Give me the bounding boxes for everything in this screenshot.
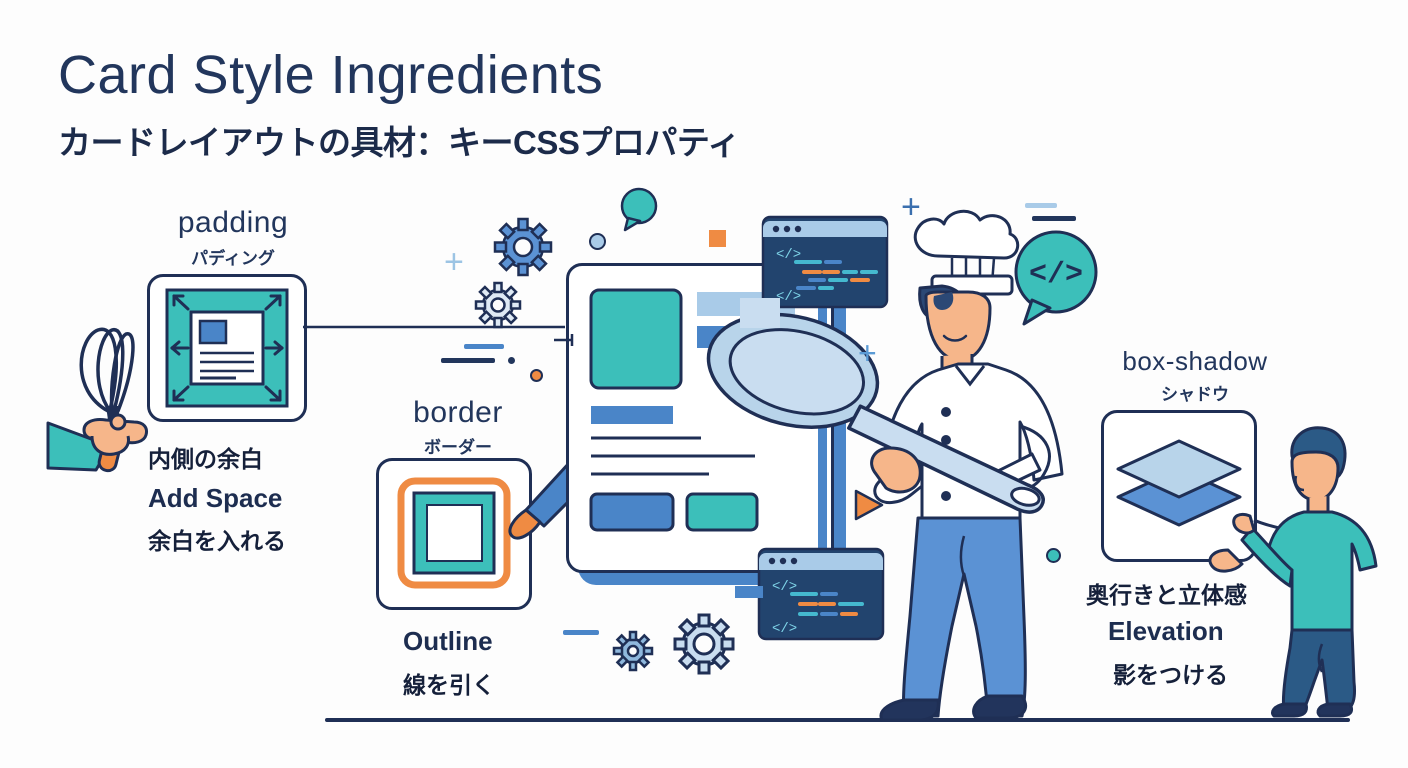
- person-hand-upper: [1234, 514, 1254, 532]
- border-caption-ja-bottom: 線を引く: [403, 666, 495, 700]
- plus-decor-top: +: [901, 190, 921, 224]
- speech-bubble-code-glyph: </>: [1029, 258, 1083, 292]
- blue-tab-decor: [735, 586, 763, 598]
- dash-dot-decor: [508, 357, 515, 364]
- chef-pants: [903, 518, 1025, 716]
- gear-icon-small: [473, 280, 523, 330]
- code-glyph-close: </>: [772, 621, 797, 637]
- padding-prop-name: padding: [148, 206, 318, 240]
- dash-decor-e: [563, 630, 599, 635]
- padding-caption-ja-bottom: 余白を入れる: [148, 522, 286, 556]
- person-pants: [1283, 630, 1354, 710]
- boxshadow-label-group: box-shadow シャドウ: [1080, 346, 1310, 405]
- dash-decor-a: [1025, 203, 1057, 208]
- boxshadow-caption-ja-bottom: 影をつける: [1113, 656, 1228, 690]
- light-block-decor: [740, 298, 780, 328]
- boxshadow-prop-name: box-shadow: [1080, 346, 1310, 377]
- code-speech-bubble: </>: [1006, 228, 1106, 328]
- boxshadow-caption-en: Elevation: [1108, 616, 1224, 647]
- orange-square-decor: [709, 230, 726, 247]
- boxshadow-icon-card: [1101, 410, 1257, 562]
- plus-decor-left: +: [444, 245, 464, 279]
- chef-shoe-left: [881, 700, 938, 720]
- teal-bubble-decor: [618, 188, 662, 232]
- border-caption-en: Outline: [403, 626, 493, 657]
- padding-caption-en: Add Space: [148, 483, 282, 514]
- padding-prop-kana: パディング: [148, 244, 318, 269]
- gear-icon-bottom-small: [612, 630, 654, 672]
- infographic-canvas: Card Style Ingredients カードレイアウトの具材：キーCSS…: [0, 0, 1408, 768]
- chef-hand: [872, 448, 921, 492]
- dash-decor-c: [464, 344, 504, 349]
- orange-dot-decor: [530, 369, 543, 382]
- plus-decor-mid: +: [858, 337, 877, 369]
- layer-stack-icon: [1104, 413, 1254, 559]
- teal-dot-decor: [1046, 548, 1061, 563]
- dash-decor-b: [1032, 216, 1076, 221]
- cooking-spoon-icon: [690, 338, 1090, 518]
- page-title-english: Card Style Ingredients: [58, 44, 603, 106]
- person-face: [1292, 452, 1338, 500]
- ground-line: [325, 718, 1350, 722]
- gear-icon-bottom-large: [672, 612, 736, 676]
- dash-decor-d: [441, 358, 495, 363]
- page-title-japanese: カードレイアウトの具材：キーCSSプロパティ: [58, 116, 740, 164]
- person-character: [1256, 420, 1386, 720]
- padding-label-group: padding パディング: [148, 206, 318, 269]
- orange-triangle-decor: [854, 489, 886, 521]
- chef-hat-icon: [915, 211, 1018, 258]
- boxshadow-caption-ja-top: 奥行きと立体感: [1086, 576, 1247, 610]
- gear-icon-large: [492, 216, 554, 278]
- padding-connector-line: [303, 318, 573, 338]
- chef-shoe-right: [974, 696, 1026, 718]
- padding-caption-ja-top: 内側の余白: [148, 440, 263, 474]
- blue-dot-decor: [589, 233, 606, 250]
- boxshadow-prop-kana: シャドウ: [1080, 380, 1310, 405]
- card-left-tick: [554, 330, 578, 350]
